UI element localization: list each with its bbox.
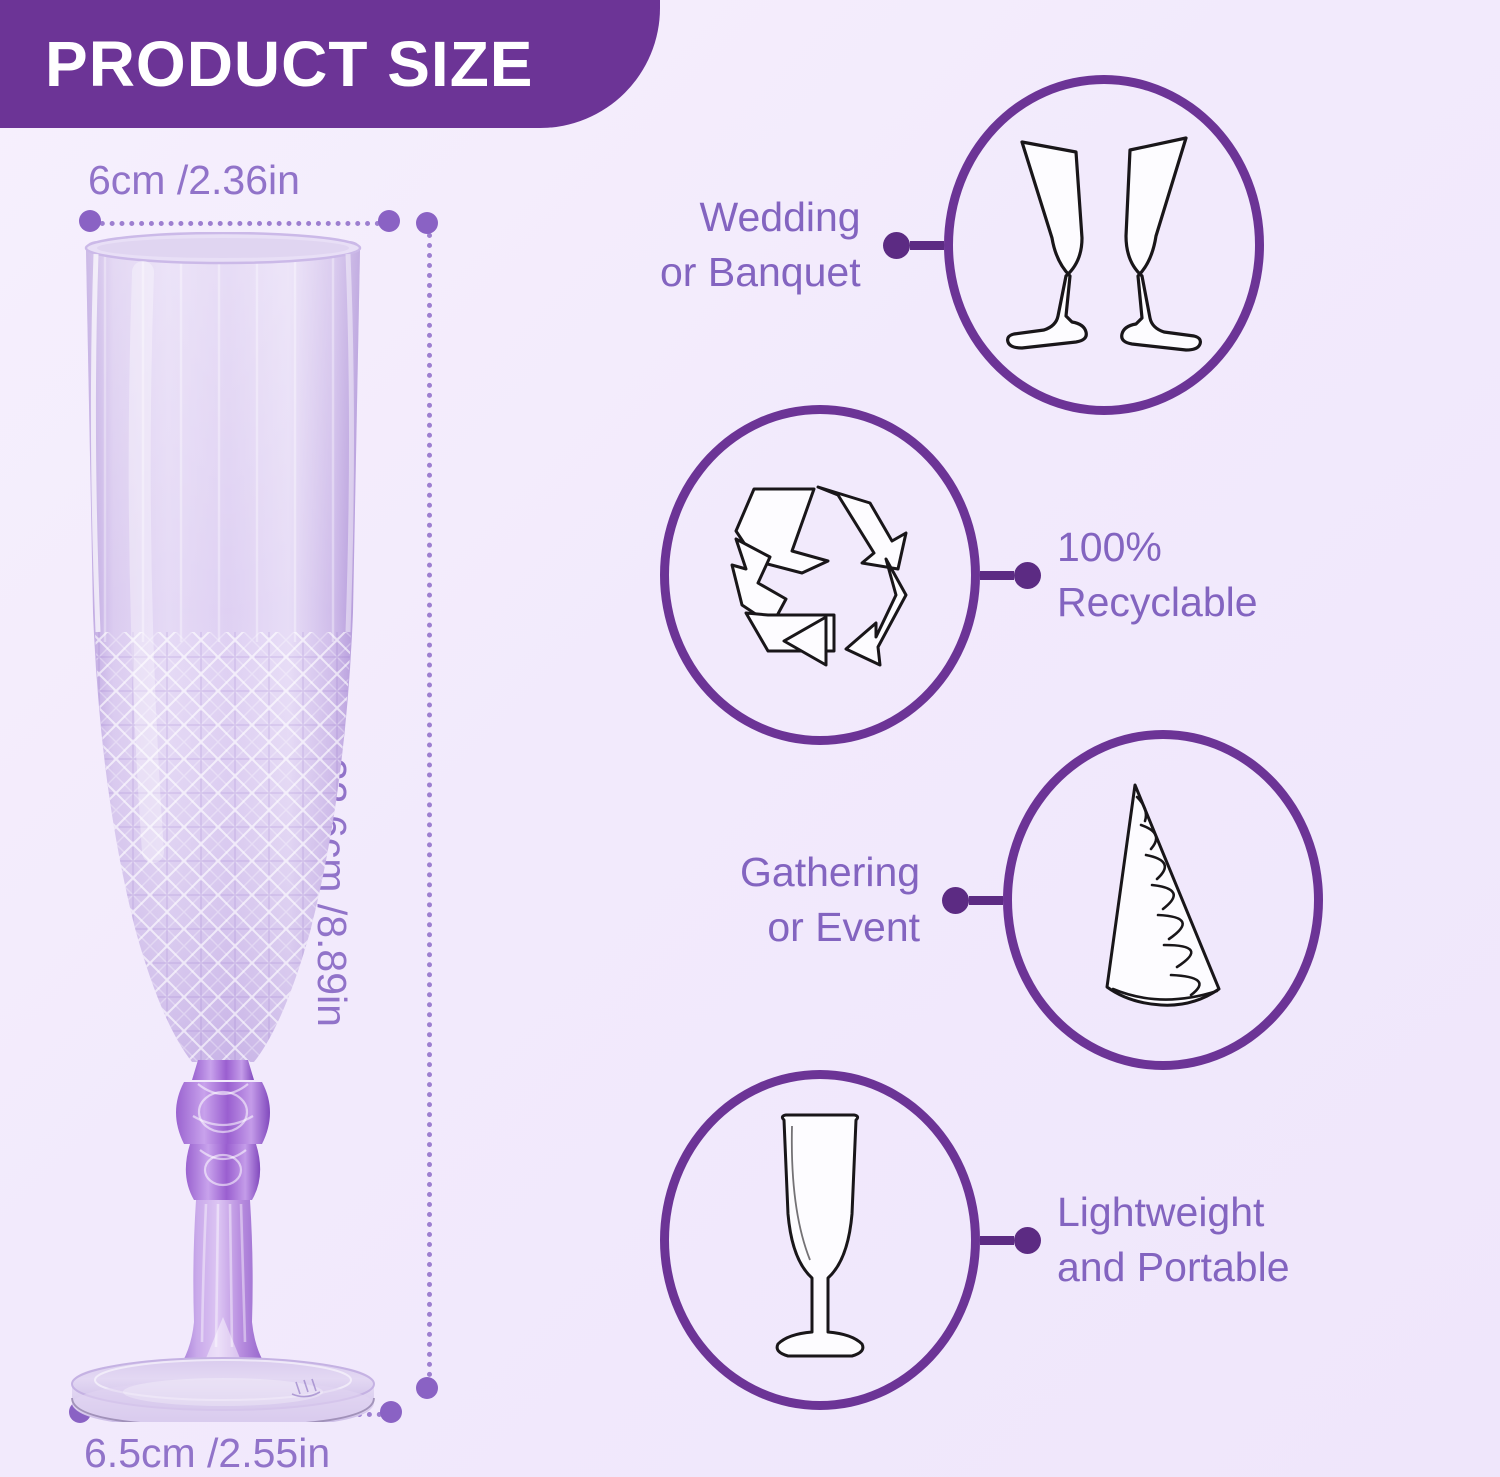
feature-icon-circle: [1003, 730, 1323, 1070]
connector: [980, 1227, 1041, 1254]
feature-label: 100% Recyclable: [1057, 520, 1258, 631]
product-image-champagne-flute: [48, 232, 398, 1422]
feature-gathering-or-event[interactable]: Gathering or Event: [740, 730, 1323, 1070]
feature-list: Wedding or Banquet: [640, 0, 1500, 1477]
feature-wedding-or-banquet[interactable]: Wedding or Banquet: [660, 75, 1264, 415]
feature-label: Lightweight and Portable: [1057, 1185, 1290, 1296]
feature-icon-circle: [660, 1070, 980, 1410]
top-dimension-line: [90, 221, 390, 226]
connector-dot: [883, 232, 910, 259]
feature-icon-circle: [660, 405, 980, 745]
height-dimension-line: [427, 223, 432, 1388]
party-hat-icon: [1073, 775, 1253, 1025]
connector-bar: [969, 896, 1003, 905]
feature-lightweight-and-portable[interactable]: Lightweight and Portable: [660, 1070, 1290, 1410]
connector: [883, 232, 944, 259]
connector-bar: [980, 571, 1014, 580]
connector-bar: [910, 241, 944, 250]
dimension-endpoint-dot: [79, 210, 101, 232]
base-width-label: 6.5cm /2.55in: [84, 1433, 330, 1474]
feature-recyclable[interactable]: 100% Recyclable: [660, 405, 1258, 745]
dimension-endpoint-dot: [416, 1377, 438, 1399]
dimension-endpoint-dot: [416, 212, 438, 234]
feature-icon-circle: [944, 75, 1264, 415]
connector: [980, 562, 1041, 589]
product-size-pane: 6cm /2.36in 22.6cm /8.89in 6.5cm /2.55in: [0, 128, 640, 1477]
feature-label: Wedding or Banquet: [660, 190, 861, 301]
champagne-flute-icon: [740, 1110, 900, 1370]
recycling-symbol-icon: [710, 465, 930, 685]
toasting-champagne-glasses-icon: [1004, 120, 1204, 370]
dimension-endpoint-dot: [378, 210, 400, 232]
connector: [942, 887, 1003, 914]
connector-dot: [1014, 562, 1041, 589]
top-width-label: 6cm /2.36in: [88, 160, 300, 201]
page-title: PRODUCT SIZE: [45, 32, 533, 96]
connector-dot: [942, 887, 969, 914]
feature-label: Gathering or Event: [740, 845, 920, 956]
connector-bar: [980, 1236, 1014, 1245]
connector-dot: [1014, 1227, 1041, 1254]
header-banner: PRODUCT SIZE: [0, 0, 660, 128]
